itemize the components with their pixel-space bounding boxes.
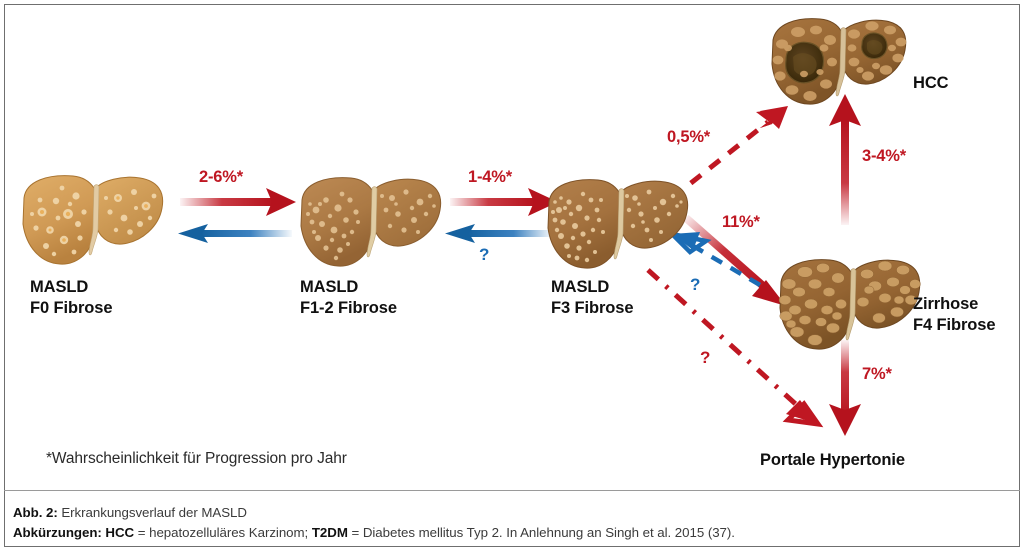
liver-illustration-f0	[18, 168, 168, 273]
caption-t2dm-expansion: = Diabetes mellitus Typ 2. In Anlehnung …	[348, 525, 735, 540]
node-label-portal-hypertension: Portale Hypertonie	[760, 450, 905, 471]
frame-border-bottom	[4, 546, 1020, 547]
node-label-cirrhosis: ZirrhoseF4 Fibrose	[913, 294, 995, 336]
liver-illustration-cirrhosis	[775, 252, 925, 358]
node-label-hcc: HCC	[913, 73, 948, 94]
node-label-f0: MASLDF0 Fibrose	[30, 277, 112, 319]
node-label-f3: MASLDF3 Fibrose	[551, 277, 633, 319]
edge-label-cirrhosis-to-portal: 7%*	[862, 365, 892, 384]
edge-label-f3-to-cirrhosis: 11%*	[722, 213, 760, 232]
edge-label-cirrhosis-to-f3-question: ?	[690, 275, 700, 295]
caption-hcc-expansion: = hepatozelluläres Karzinom;	[134, 525, 312, 540]
caption-separator	[4, 490, 1020, 491]
edge-label-cirrhosis-to-hcc: 3-4%*	[862, 147, 906, 166]
frame-border-right	[1019, 4, 1020, 547]
caption-abbrev-label: Abkürzungen:	[13, 525, 102, 540]
arrow-cirrhosis-to-hcc	[829, 94, 861, 225]
edge-label-f3-to-hcc: 0,5%*	[667, 128, 710, 147]
frame-border-top	[4, 4, 1020, 5]
caption-title-text: Erkrankungsverlauf der MASLD	[58, 505, 247, 520]
arrow-f3-to-f12-regression	[445, 224, 552, 243]
node-label-f12: MASLDF1-2 Fibrose	[300, 277, 397, 319]
liver-illustration-f3	[543, 172, 693, 277]
edge-label-f3-to-f12-question: ?	[479, 245, 489, 265]
arrow-f0-to-f12-progression	[180, 188, 296, 216]
liver-illustration-f12	[296, 170, 446, 275]
caption-hcc-abbrev: HCC	[102, 525, 134, 540]
edge-label-f0-to-f12: 2-6%*	[199, 168, 243, 187]
caption-line-1: Abb. 2: Erkrankungsverlauf der MASLD	[13, 503, 735, 523]
caption-abb-label: Abb. 2:	[13, 505, 58, 520]
caption-t2dm-abbrev: T2DM	[312, 525, 348, 540]
figure-caption: Abb. 2: Erkrankungsverlauf der MASLD Abk…	[13, 503, 735, 543]
edge-label-f3-to-portal-question: ?	[700, 348, 710, 368]
figure-footnote: *Wahrscheinlichkeit für Progression pro …	[46, 450, 347, 468]
figure-canvas: MASLDF0 Fibrose MASLDF1-2 Fibrose MASLDF…	[0, 0, 1024, 551]
edge-label-f12-to-f3: 1-4%*	[468, 168, 512, 187]
caption-line-2: Abkürzungen: HCC = hepatozelluläres Karz…	[13, 523, 735, 543]
liver-illustration-hcc	[768, 12, 910, 112]
frame-border-left	[4, 4, 5, 547]
arrow-f12-to-f3-progression	[450, 188, 558, 216]
arrow-f12-to-f0-regression	[178, 224, 292, 243]
